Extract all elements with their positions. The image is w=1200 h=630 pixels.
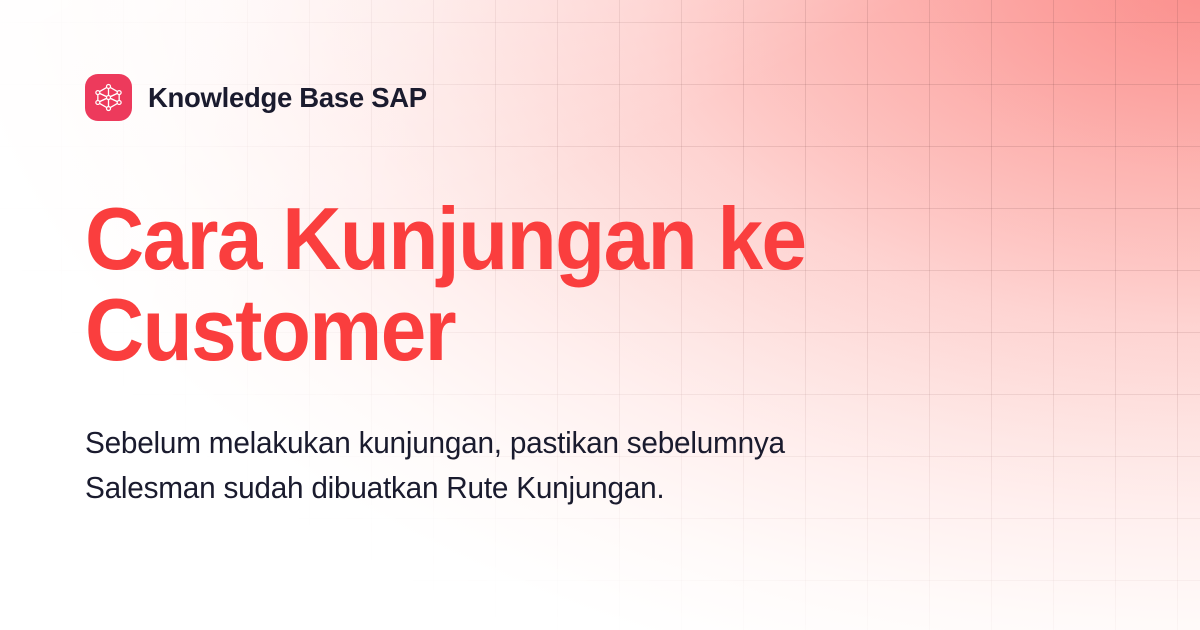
- brand-lockup[interactable]: Knowledge Base SAP: [85, 74, 1115, 121]
- page-title: Cara Kunjungan ke Customer: [85, 194, 820, 375]
- card-content: Knowledge Base SAP Cara Kunjungan ke Cus…: [0, 0, 1200, 630]
- page-description: Sebelum melakukan kunjungan, pastikan se…: [85, 421, 815, 510]
- network-graph-icon: [93, 82, 124, 113]
- brand-name: Knowledge Base SAP: [148, 82, 427, 114]
- brand-logo-badge: [85, 74, 132, 121]
- og-card: Knowledge Base SAP Cara Kunjungan ke Cus…: [0, 0, 1200, 630]
